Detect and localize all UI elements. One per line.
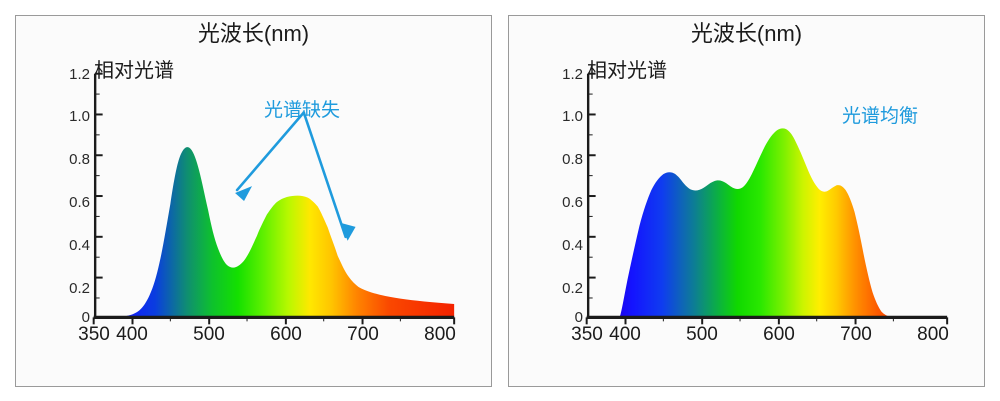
spectrum-curve-left: [94, 147, 454, 317]
spectrum-curve-right: [620, 128, 948, 317]
plot-right: [509, 16, 984, 386]
plot-left: [16, 16, 491, 386]
panel-left-spectrum-deficient: 相对光谱 光谱缺失 1.2 1.0 0.8 0.6 0.4 0.2 0 350 …: [15, 15, 492, 387]
figure-root: 相对光谱 光谱缺失 1.2 1.0 0.8 0.6 0.4 0.2 0 350 …: [0, 0, 1000, 401]
panel-right-spectrum-balanced: 相对光谱 光谱均衡 1.2 1.0 0.8 0.6 0.4 0.2 0 350 …: [508, 15, 985, 387]
